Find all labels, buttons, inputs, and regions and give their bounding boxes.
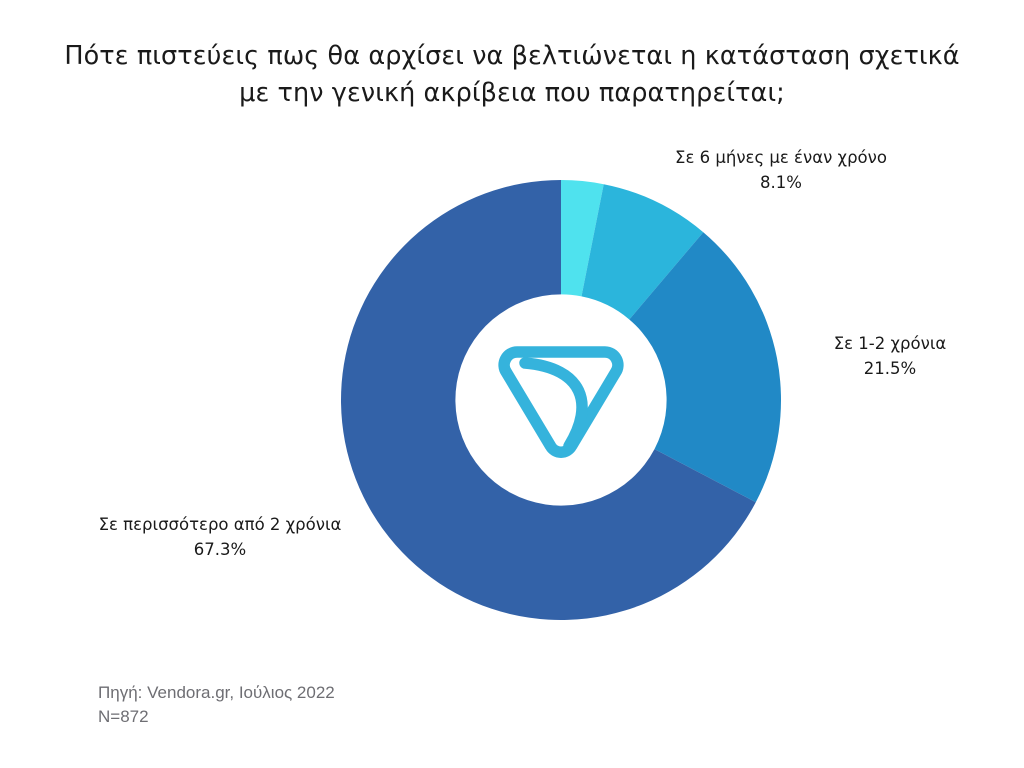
slice-label-more-than-two-name: Σε περισσότερο από 2 χρόνια [70, 512, 370, 537]
logo-inner-curve [525, 363, 582, 446]
slice-label-six-months: Σε 6 μήνες με έναν χρόνο 8.1% [648, 145, 914, 195]
page-title: Πότε πιστεύεις πως θα αρχίσει να βελτιών… [62, 38, 962, 112]
slice-label-one-to-two-name: Σε 1-2 χρόνια [790, 331, 990, 356]
chart-page: Πότε πιστεύεις πως θα αρχίσει να βελτιών… [0, 0, 1024, 768]
source-line-2: N=872 [98, 705, 335, 729]
source-line-1: Πηγή: Vendora.gr, Ιούλιος 2022 [98, 681, 335, 705]
title-line-2: με την γενική ακρίβεια που παρατηρείται; [62, 75, 962, 112]
source-note: Πηγή: Vendora.gr, Ιούλιος 2022 N=872 [98, 681, 335, 729]
slice-label-six-months-value: 8.1% [648, 170, 914, 195]
slice-label-six-months-name: Σε 6 μήνες με έναν χρόνο [648, 145, 914, 170]
slice-label-one-to-two: Σε 1-2 χρόνια 21.5% [790, 331, 990, 381]
vendora-logo [497, 342, 625, 460]
slice-label-one-to-two-value: 21.5% [790, 356, 990, 381]
vendora-logo-icon [497, 342, 625, 460]
slice-label-more-than-two: Σε περισσότερο από 2 χρόνια 67.3% [70, 512, 370, 562]
title-line-1: Πότε πιστεύεις πως θα αρχίσει να βελτιών… [62, 38, 962, 75]
slice-label-more-than-two-value: 67.3% [70, 537, 370, 562]
